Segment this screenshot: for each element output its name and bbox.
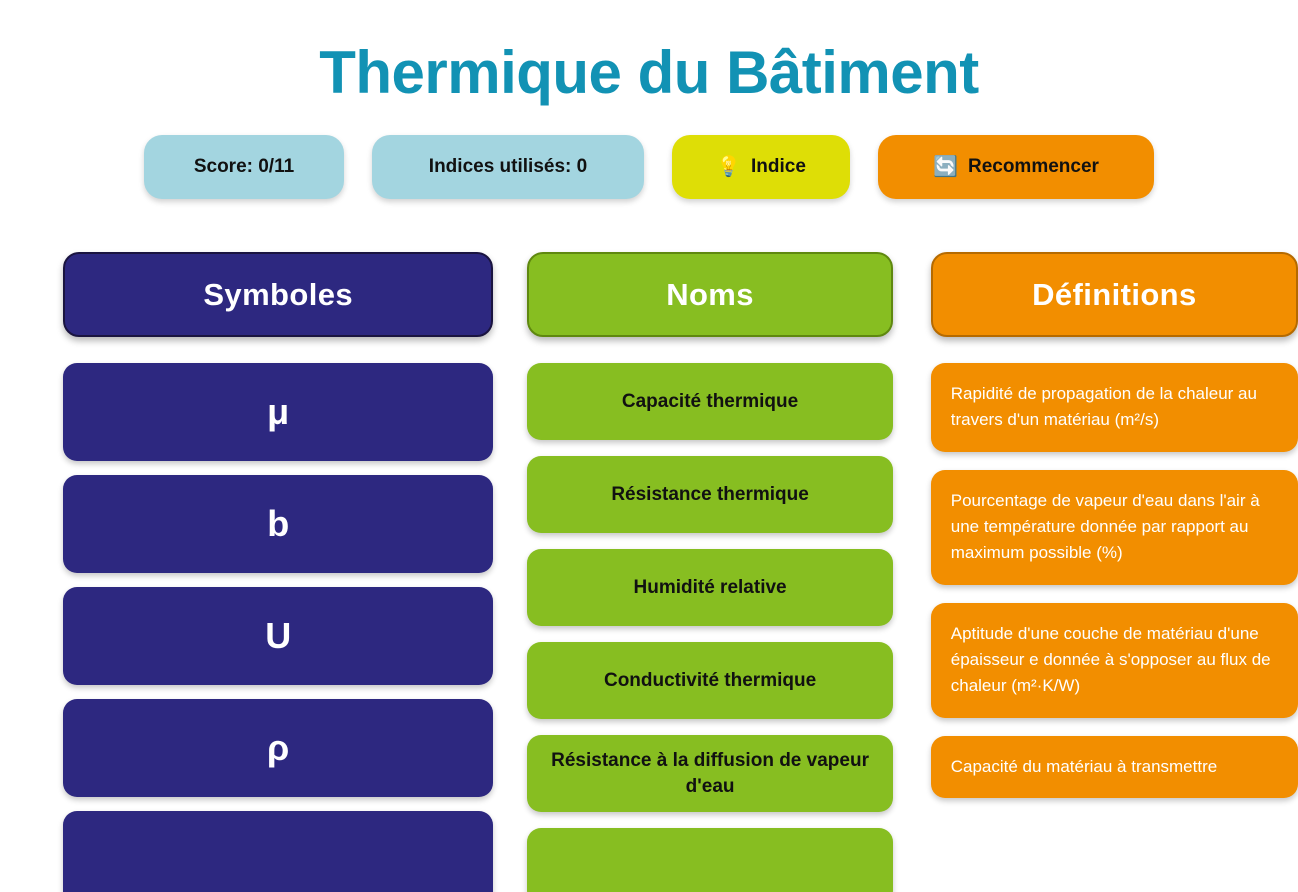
column-header-symboles: Symboles <box>63 252 493 337</box>
definition-card[interactable]: Rapidité de propagation de la chaleur au… <box>931 363 1298 452</box>
name-card-list: Capacité thermique Résistance thermique … <box>527 363 892 892</box>
lightbulb-icon: 💡 <box>716 157 741 177</box>
quiz-page: Thermique du Bâtiment Score: 0/11 Indice… <box>0 0 1298 892</box>
name-card[interactable]: Humidité relative <box>527 549 892 626</box>
page-title: Thermique du Bâtiment <box>0 0 1298 103</box>
hint-button-label: Indice <box>751 156 806 178</box>
column-definitions: Définitions Rapidité de propagation de l… <box>931 252 1298 892</box>
hints-used-label: Indices utilisés: 0 <box>429 156 587 178</box>
symbol-card[interactable] <box>63 811 493 892</box>
hints-used-badge: Indices utilisés: 0 <box>372 135 644 199</box>
score-label: Score: 0/11 <box>194 156 294 178</box>
restart-button-label: Recommencer <box>968 156 1099 178</box>
name-card[interactable]: Résistance thermique <box>527 456 892 533</box>
symbol-card[interactable]: ρ <box>63 699 493 797</box>
symbol-card[interactable]: U <box>63 587 493 685</box>
score-badge: Score: 0/11 <box>144 135 344 199</box>
name-card[interactable]: Conductivité thermique <box>527 642 892 719</box>
refresh-icon: 🔄 <box>933 157 958 177</box>
column-header-noms: Noms <box>527 252 892 337</box>
symbol-card-list: μ b U ρ <box>63 363 493 892</box>
hint-button[interactable]: 💡 Indice <box>672 135 850 199</box>
matching-board: Symboles μ b U ρ Noms Capacité thermique… <box>0 252 1298 892</box>
column-header-definitions: Définitions <box>931 252 1298 337</box>
name-card[interactable]: Résistance à la diffusion de vapeur d'ea… <box>527 735 892 812</box>
column-noms: Noms Capacité thermique Résistance therm… <box>527 252 892 892</box>
definition-card[interactable]: Pourcentage de vapeur d'eau dans l'air à… <box>931 470 1298 585</box>
definition-card[interactable]: Capacité du matériau à transmettre <box>931 736 1298 798</box>
restart-button[interactable]: 🔄 Recommencer <box>878 135 1154 199</box>
name-card[interactable] <box>527 828 892 892</box>
column-symboles: Symboles μ b U ρ <box>63 252 493 892</box>
symbol-card[interactable]: b <box>63 475 493 573</box>
symbol-card[interactable]: μ <box>63 363 493 461</box>
definition-card[interactable]: Aptitude d'une couche de matériau d'une … <box>931 603 1298 718</box>
name-card[interactable]: Capacité thermique <box>527 363 892 440</box>
status-bar: Score: 0/11 Indices utilisés: 0 💡 Indice… <box>0 135 1298 199</box>
definition-card-list: Rapidité de propagation de la chaleur au… <box>931 363 1298 816</box>
